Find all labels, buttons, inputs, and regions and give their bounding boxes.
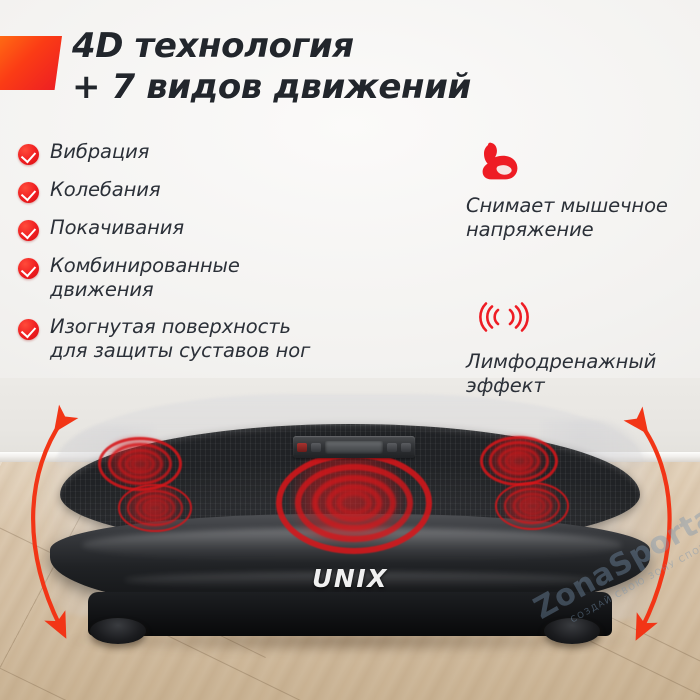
check-circle-icon — [18, 319, 39, 340]
benefit-label: Лимфодренажный эффект — [466, 350, 696, 398]
list-item: Колебания — [18, 178, 348, 203]
list-item: Вибрация — [18, 140, 348, 165]
feature-label: Вибрация — [50, 140, 149, 164]
page-title: 4D технология + 7 видов движений — [72, 26, 632, 108]
benefit-lymph-drainage: Лимфодренажный эффект — [466, 298, 696, 398]
benefit-muscle-relief: Снимает мышечное напряжение — [466, 142, 696, 242]
vibration-plate: UNIX — [28, 396, 672, 642]
feature-label: Изогнутая поверхность для защиты суставо… — [50, 315, 310, 363]
vibration-waves-icon — [466, 298, 696, 338]
mode-button[interactable] — [311, 443, 321, 452]
check-circle-icon — [18, 220, 39, 241]
device-foot-left — [90, 618, 146, 644]
speed-down-button[interactable] — [387, 443, 397, 452]
feature-label: Покачивания — [50, 216, 184, 240]
red-parallelogram-mark — [0, 36, 62, 90]
feature-list: Вибрация Колебания Покачивания Комбиниро… — [18, 140, 348, 376]
brand-logo: UNIX — [28, 564, 672, 593]
control-panel[interactable] — [293, 436, 415, 458]
device-foot-right — [544, 618, 600, 644]
speed-up-button[interactable] — [401, 443, 411, 452]
check-circle-icon — [18, 144, 39, 165]
benefit-label: Снимает мышечное напряжение — [466, 194, 696, 242]
title-line-1: 4D технология — [72, 26, 632, 66]
check-circle-icon — [18, 258, 39, 279]
feature-label: Колебания — [50, 178, 160, 202]
list-item: Комбинированные движения — [18, 254, 348, 302]
list-item: Покачивания — [18, 216, 348, 241]
flexed-biceps-icon — [466, 142, 696, 182]
check-circle-icon — [18, 182, 39, 203]
console-display — [325, 441, 383, 454]
power-button[interactable] — [297, 443, 307, 452]
body-highlight — [82, 528, 622, 562]
title-line-2: + 7 видов движений — [72, 66, 632, 108]
feature-label: Комбинированные движения — [50, 254, 240, 302]
infographic-canvas: 4D технология + 7 видов движений Вибраци… — [0, 0, 700, 700]
list-item: Изогнутая поверхность для защиты суставо… — [18, 315, 348, 363]
device-base — [88, 592, 612, 636]
